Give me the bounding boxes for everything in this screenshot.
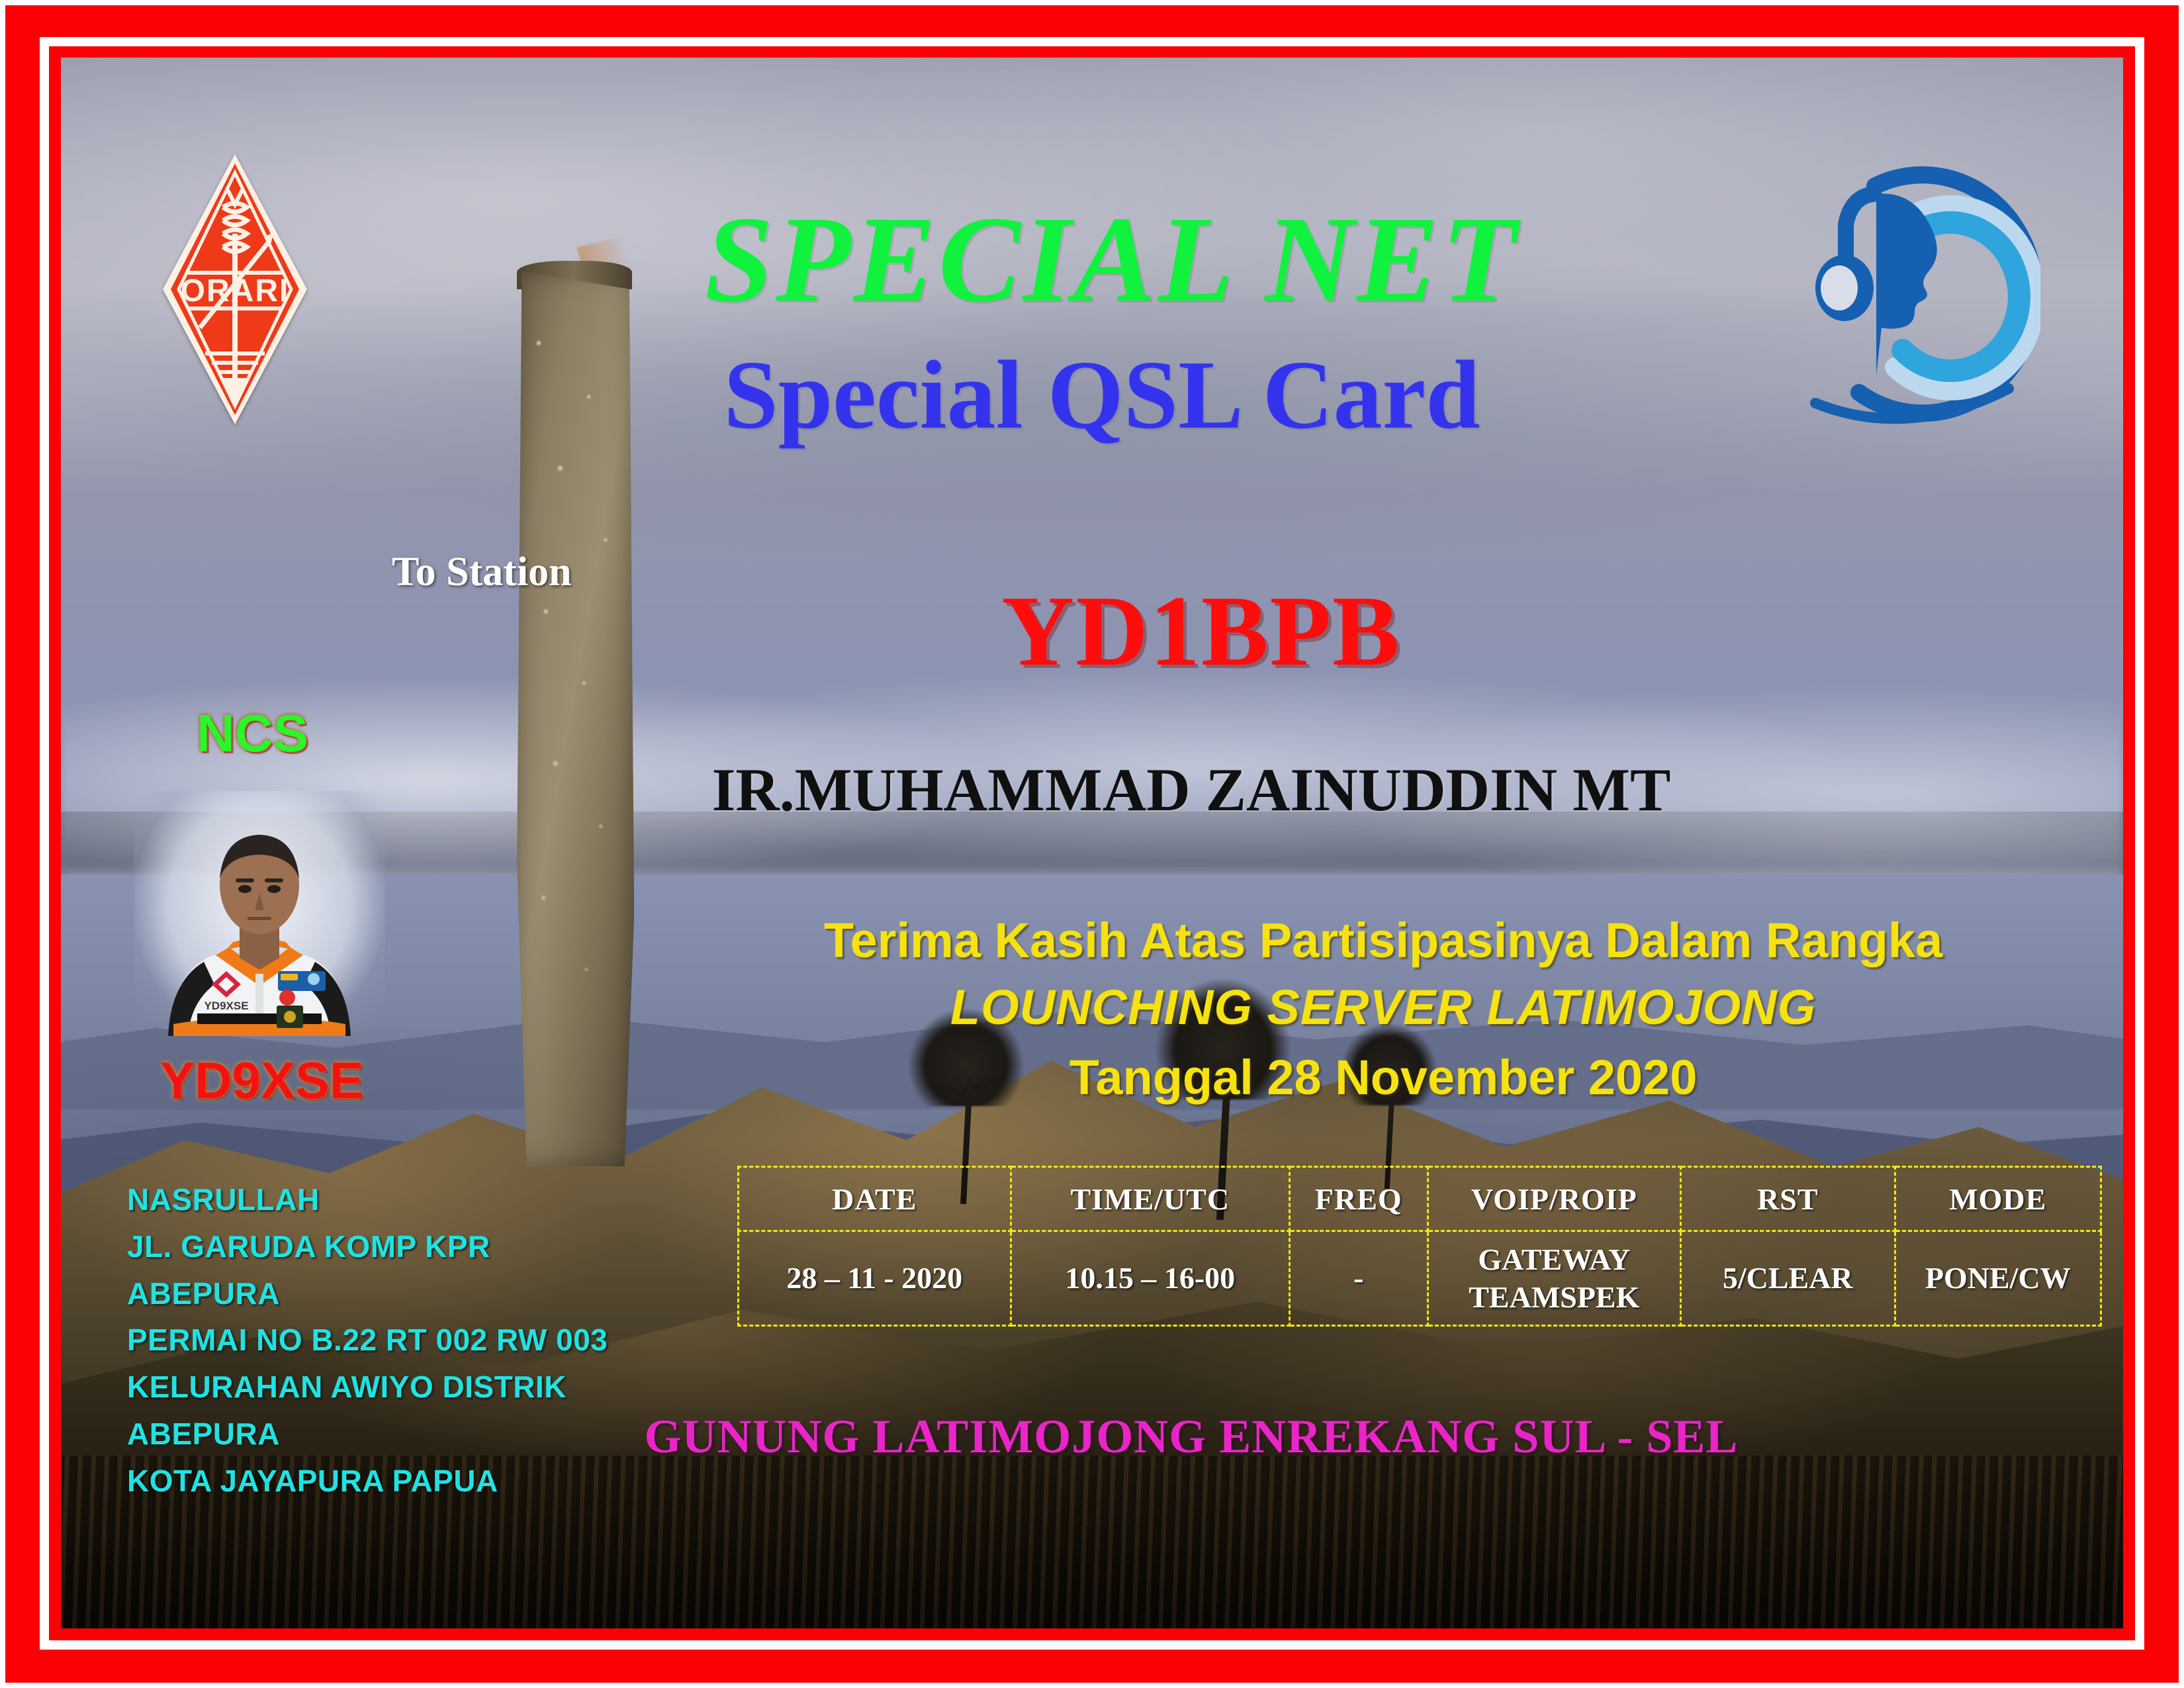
address-line: NASRULLAH bbox=[127, 1176, 608, 1223]
cell-voip-line-2: TEAMSPEK bbox=[1469, 1280, 1639, 1314]
address-line: JL. GARUDA KOMP KPR bbox=[127, 1223, 608, 1270]
address-line: PERMAI NO B.22 RT 002 RW 003 bbox=[127, 1317, 608, 1364]
ncs-label: NCS bbox=[197, 703, 308, 764]
column-header-date: DATE bbox=[739, 1167, 1011, 1231]
location-line: GUNUNG LATIMOJONG ENREKANG SUL - SEL bbox=[61, 1409, 2123, 1464]
cell-time: 10.15 – 16-00 bbox=[1011, 1231, 1289, 1326]
page-title-special-net: SPECIAL NET bbox=[61, 198, 2123, 321]
cell-date: 28 – 11 - 2020 bbox=[739, 1231, 1011, 1326]
outer-red-border: ORARI bbox=[5, 5, 2179, 1683]
station-callsign: YD1BPB bbox=[61, 581, 2123, 681]
card-content: ORARI bbox=[61, 58, 2123, 1628]
cell-rst: 5/CLEAR bbox=[1680, 1231, 1895, 1326]
qso-log-table: DATE TIME/UTC FREQ VOIP/ROIP RST MODE bbox=[737, 1166, 2102, 1327]
cell-voip: GATEWAY TEAMSPEK bbox=[1428, 1231, 1680, 1326]
table-header-row: DATE TIME/UTC FREQ VOIP/ROIP RST MODE bbox=[739, 1167, 2101, 1231]
column-header-freq: FREQ bbox=[1289, 1167, 1428, 1231]
event-date: Tanggal 28 November 2020 bbox=[756, 1049, 2011, 1106]
card-photo-area: ORARI bbox=[61, 58, 2123, 1628]
cell-freq: - bbox=[1289, 1231, 1428, 1326]
table-row: 28 – 11 - 2020 10.15 – 16-00 - GATEWAY T… bbox=[739, 1231, 2101, 1326]
event-title: LOUNCHING SERVER LATIMOJONG bbox=[756, 978, 2011, 1036]
thanks-line-1: Terima Kasih Atas Partisipasinya Dalam R… bbox=[756, 912, 2011, 969]
inner-red-border: ORARI bbox=[49, 46, 2135, 1640]
subtitle-special-qsl-card: Special QSL Card bbox=[61, 346, 2123, 444]
cell-mode: PONE/CW bbox=[1895, 1231, 2101, 1326]
column-header-mode: MODE bbox=[1895, 1167, 2101, 1231]
address-line: KELURAHAN AWIYO DISTRIK bbox=[127, 1364, 608, 1411]
column-header-voip: VOIP/ROIP bbox=[1428, 1167, 1680, 1231]
ncs-callsign: YD9XSE bbox=[160, 1051, 364, 1111]
column-header-rst: RST bbox=[1680, 1167, 1895, 1231]
ncs-operator-photo: YD9XSE bbox=[134, 791, 385, 1036]
column-header-time: TIME/UTC bbox=[1011, 1167, 1289, 1231]
cell-voip-line-1: GATEWAY bbox=[1478, 1243, 1630, 1276]
operator-portrait: YD9XSE bbox=[134, 791, 385, 1036]
thanks-block: Terima Kasih Atas Partisipasinya Dalam R… bbox=[756, 912, 2011, 1106]
uniform-callsign-patch: YD9XSE bbox=[204, 1000, 248, 1012]
address-line: KOTA JAYAPURA PAPUA bbox=[127, 1458, 608, 1505]
qsl-card: ORARI bbox=[0, 0, 2184, 1688]
address-line: ABEPURA bbox=[127, 1270, 608, 1317]
white-border-gap: ORARI bbox=[40, 37, 2144, 1650]
